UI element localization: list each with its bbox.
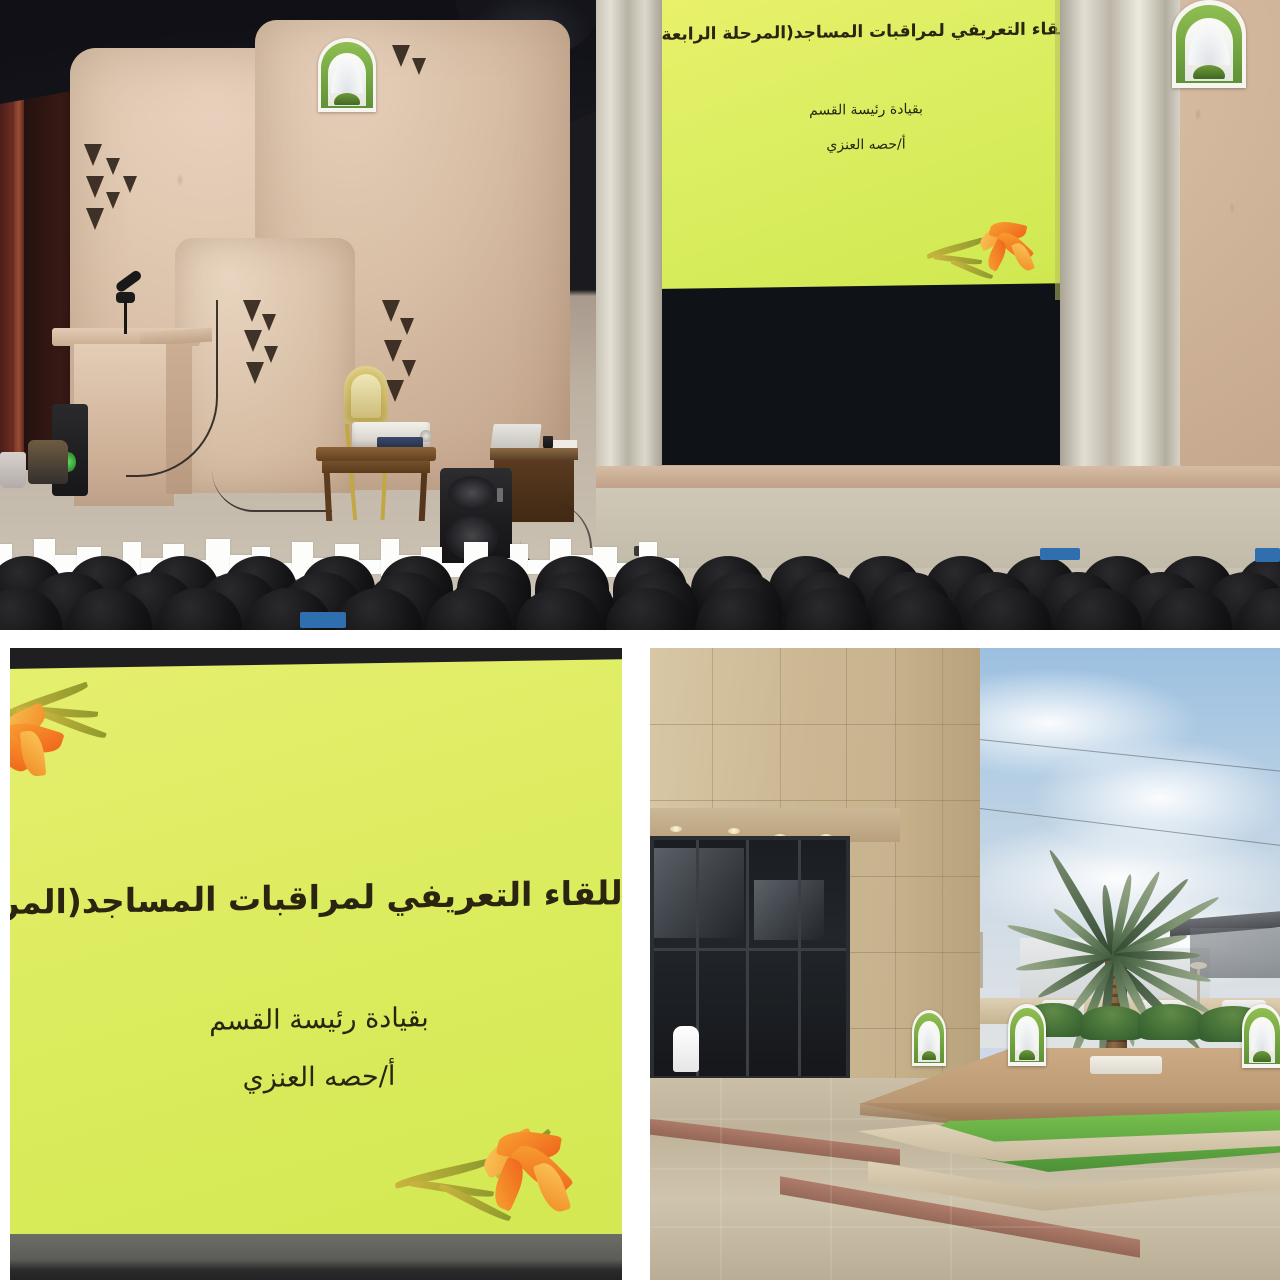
triangle-cutout [386, 380, 404, 402]
slide-title: اللقاء التعريفي لمراقبات المساجد(المرحلة… [652, 19, 1080, 45]
projected-slide-closeup: اللقاء التعريفي لمراقبات المساجد(المرحلة… [10, 659, 622, 1244]
bag [28, 440, 68, 484]
hedge [1138, 1004, 1204, 1040]
triangle-cutout [262, 314, 276, 331]
ministry-emblem-backdrop-plaque [318, 38, 376, 112]
emblem-green-dome [334, 93, 360, 105]
flower-decoration-top-left [10, 676, 166, 809]
photo-collage: اللقاء التعريفي لمراقبات المساجد(المرحلة… [0, 0, 1280, 1280]
downlight-icon [670, 826, 682, 832]
stage-curtain-right [1060, 0, 1180, 480]
triangle-cutout [384, 340, 402, 362]
stone-joint [650, 800, 980, 801]
triangle-cutout [106, 158, 120, 175]
triangle-cutout [86, 208, 104, 230]
street-lamp-head [1190, 962, 1207, 969]
triangle-cutout [106, 192, 120, 209]
desk-top [490, 448, 578, 460]
mihrab-standee [912, 1010, 946, 1066]
flower-decoration-bottom-right [384, 1100, 614, 1244]
stone-joint [650, 724, 980, 725]
hedge [1080, 1006, 1144, 1040]
standee-green-dome [1019, 1050, 1036, 1060]
projected-slide: اللقاء التعريفي لمراقبات المساجد(المرحلة… [652, 0, 1080, 289]
triangle-cutout [123, 176, 137, 193]
street-lamp-post [980, 932, 983, 988]
audience-detail [300, 612, 346, 628]
slide-subtitle-2: أ/حصه العنزي [652, 134, 1080, 156]
triangle-cutout [412, 58, 426, 75]
distant-canopy [1190, 928, 1280, 978]
mihrab-standee [1242, 1004, 1280, 1068]
triangle-cutout [382, 300, 400, 322]
stone-joint [942, 648, 943, 1078]
panel-slide-closeup: اللقاء التعريفي لمراقبات المساجد(المرحلة… [10, 648, 622, 1280]
audience-detail [1255, 548, 1280, 562]
speaker-badge [497, 488, 503, 502]
triangle-cutout [86, 176, 104, 198]
stage-edge [596, 466, 1280, 488]
triangle-cutout [392, 45, 410, 67]
screen-frame-bottom [10, 1234, 622, 1280]
slide-subtitle-2: أ/حصه العنزي [10, 1057, 622, 1098]
plaza-tile [650, 1226, 1280, 1228]
panel-building-exterior [650, 648, 1280, 1280]
triangle-cutout [400, 318, 414, 335]
gutter-vertical [622, 648, 650, 1280]
stone-joint [895, 648, 896, 1078]
laptop [490, 424, 541, 450]
triangle-cutout [402, 360, 416, 377]
triangle-cutout [84, 144, 102, 166]
triangle-cutout [244, 330, 262, 352]
plaza-tile [830, 1078, 832, 1280]
stage-floor-right [596, 488, 1280, 568]
speaker-horn-icon [448, 476, 496, 510]
stage-curtain-left [596, 0, 662, 470]
slide-subtitle-1: بقيادة رئيسة القسم [652, 99, 1080, 121]
wooden-table-apron [322, 461, 430, 473]
downlight-icon [728, 828, 740, 834]
gold-chair-cushion [351, 374, 381, 418]
white-chair-cover [673, 1026, 699, 1072]
mihrab-standee [1008, 1004, 1046, 1066]
bucket [0, 452, 26, 488]
white-planter [1090, 1056, 1162, 1074]
triangle-cutout [243, 300, 261, 322]
panel-event-hall-stage: اللقاء التعريفي لمراقبات المساجد(المرحلة… [0, 0, 1280, 630]
standee-green-dome [922, 1051, 937, 1060]
plaza-tile [650, 1168, 1280, 1170]
street-lamp-post [1197, 966, 1200, 1006]
audience-detail [1040, 548, 1080, 560]
wooden-table-top [316, 447, 436, 461]
ministry-emblem-wall-plaque [1172, 0, 1246, 88]
gutter-horizontal [0, 630, 1280, 648]
plaza-tile [720, 1078, 722, 1280]
flower-decoration [920, 203, 1070, 285]
triangle-cutout [264, 346, 278, 363]
standee-green-dome [1253, 1051, 1271, 1061]
slide-title: اللقاء التعريفي لمراقبات المساجد(المرحلة… [10, 873, 622, 922]
slide-subtitle-1: بقيادة رئيسة القسم [10, 999, 622, 1040]
triangle-cutout [246, 362, 264, 384]
gutter-left-edge [0, 648, 10, 1280]
